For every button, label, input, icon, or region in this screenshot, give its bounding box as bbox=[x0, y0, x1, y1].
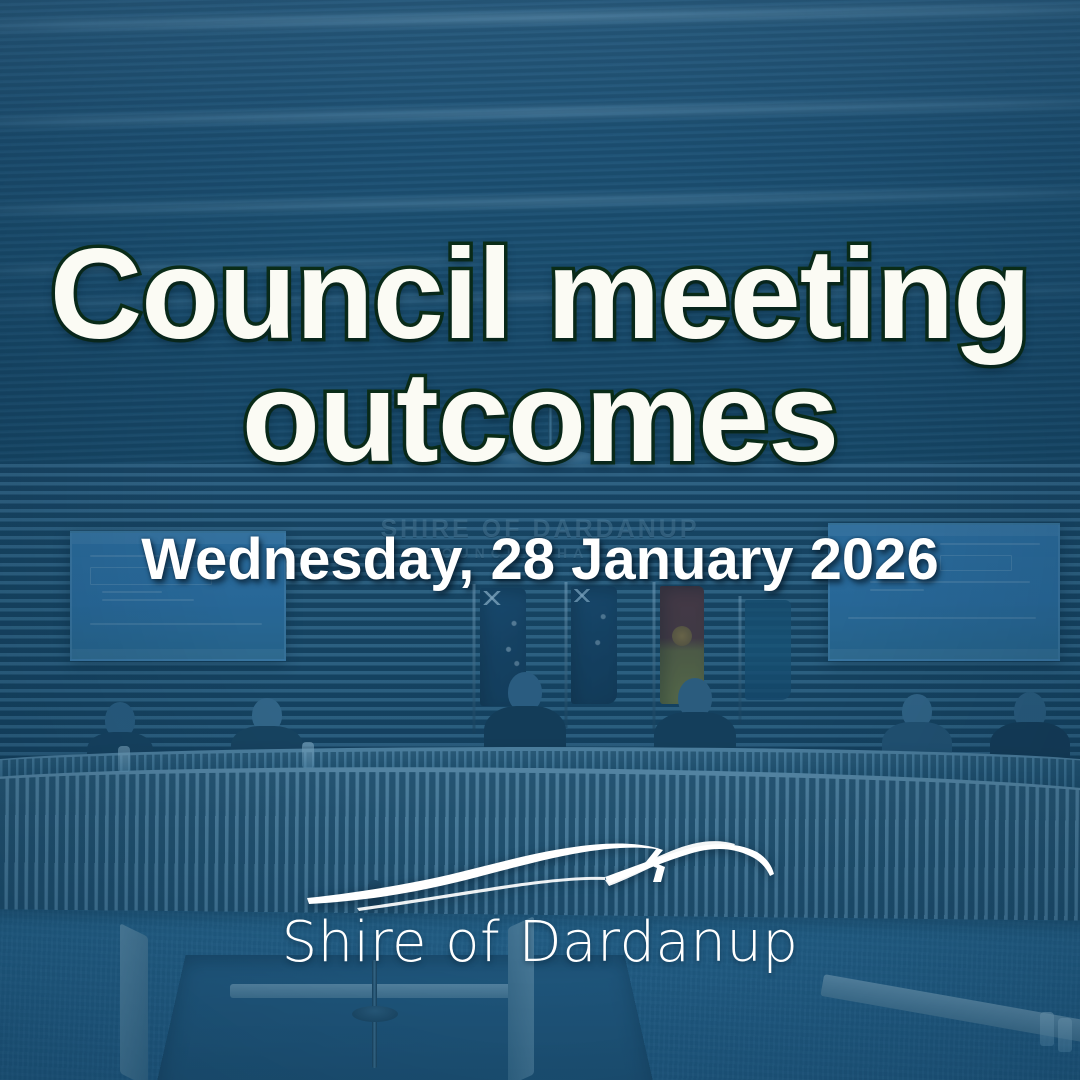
hills-logo-icon bbox=[305, 836, 775, 914]
shire-logo-text: Shire of Dardanup bbox=[280, 910, 800, 975]
poster-canvas: SHIRE OF DARDANUP COUNCIL CHAMBER bbox=[0, 0, 1080, 1080]
page-title-line-1: Council meeting bbox=[50, 223, 1031, 366]
shire-logo: Shire of Dardanup bbox=[280, 836, 800, 975]
page-title-line-2: outcomes bbox=[0, 357, 1080, 480]
page-title: Council meeting outcomes bbox=[0, 234, 1080, 480]
meeting-date: Wednesday, 28 January 2026 bbox=[0, 526, 1080, 593]
